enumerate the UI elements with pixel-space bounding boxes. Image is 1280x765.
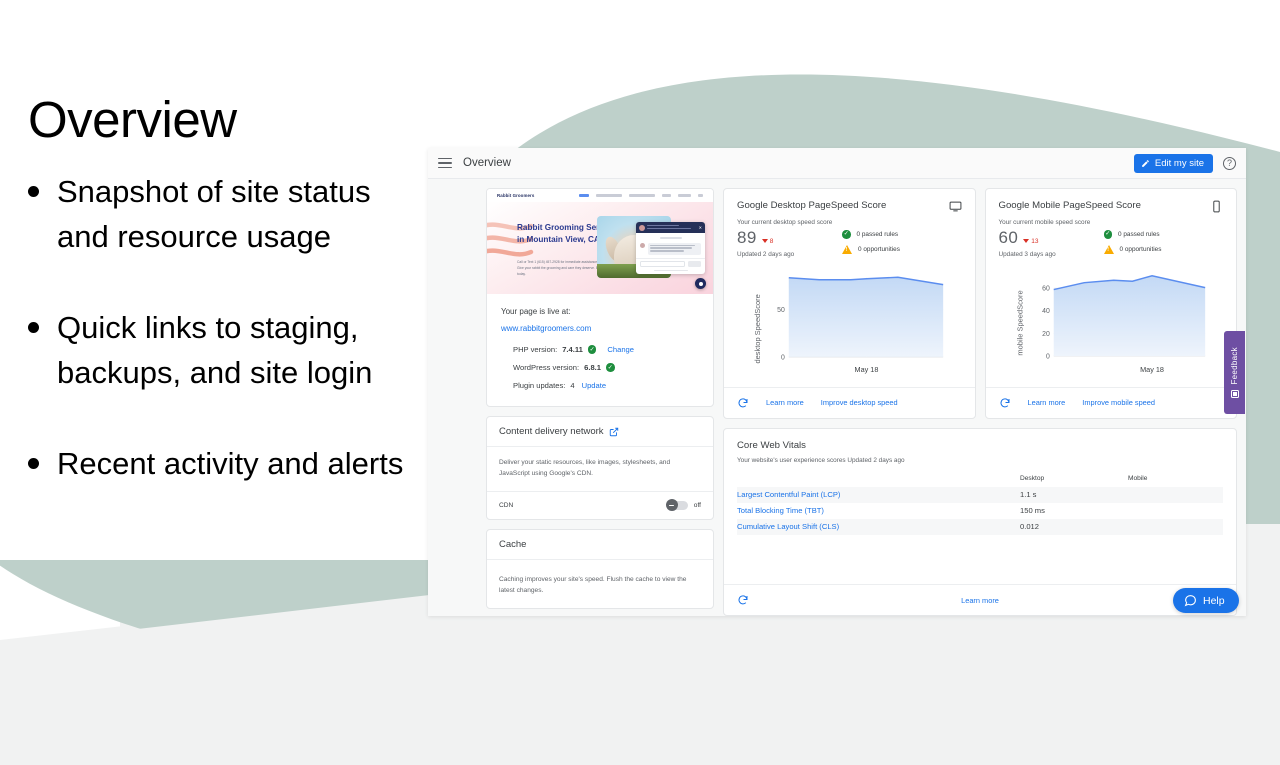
- app-content: Rabbit Groomers Rabbit Grooming Service: [428, 179, 1246, 616]
- cwv-cls-desktop: 0.012: [1020, 522, 1128, 531]
- mobile-area-fill: [1053, 275, 1204, 355]
- wordpress-version-value: 6.8.1: [584, 363, 601, 372]
- feedback-icon: [1231, 390, 1239, 398]
- mobile-pagespeed-card: Google Mobile PageSpeed Score Your curre…: [985, 188, 1238, 419]
- cdn-toggle-label: CDN: [499, 502, 513, 509]
- cwv-learn-more-link[interactable]: Learn more: [724, 596, 1236, 605]
- desktop-chart-svg: desktop SpeedScore 50 0 May 18: [737, 264, 962, 382]
- bullet-dot-icon: [28, 458, 39, 469]
- cdn-card-title: Content delivery network: [499, 426, 604, 437]
- desktop-passed-rules-row: ✓ 0 passed rules: [842, 230, 900, 239]
- bullet-dot-icon: [28, 322, 39, 333]
- site-hero: Rabbit Grooming Services in Mountain Vie…: [487, 202, 713, 294]
- cdn-card: Content delivery network Deliver your st…: [486, 416, 714, 520]
- mobile-updated-text: Updated 3 days ago: [999, 251, 1104, 258]
- core-web-vitals-card: Core Web Vitals Your website's user expe…: [723, 428, 1237, 617]
- mobile-card-footer: Learn more Improve mobile speed: [986, 387, 1237, 418]
- app-window: Overview Edit my site ? Rabbit Groomers: [428, 148, 1246, 616]
- cwv-col-desktop: Desktop: [1020, 475, 1128, 482]
- desktop-score-delta: 8: [762, 238, 774, 245]
- desktop-card-subtitle: Your current desktop speed score: [737, 219, 962, 226]
- desktop-rules-block: ✓ 0 passed rules 0 opportunities: [842, 228, 900, 260]
- mobile-phone-icon: [1210, 200, 1223, 213]
- check-circle-icon: ✓: [842, 230, 851, 239]
- desktop-speed-chart: desktop SpeedScore 50 0 May 18: [724, 260, 975, 387]
- avatar: [640, 243, 645, 248]
- mobile-ytick-60: 60: [1042, 285, 1050, 292]
- app-page-title: Overview: [463, 157, 511, 169]
- question-mark-icon[interactable]: ?: [1223, 157, 1236, 170]
- mobile-card-header: Google Mobile PageSpeed Score Your curre…: [986, 189, 1237, 260]
- cwv-title: Core Web Vitals: [737, 440, 1223, 451]
- table-row: Largest Contentful Paint (LCP) 1.1 s: [737, 487, 1223, 503]
- plugin-updates-row: Plugin updates: 4 Update: [501, 381, 699, 390]
- improve-mobile-speed-link[interactable]: Improve mobile speed: [1082, 398, 1155, 407]
- list-item: Snapshot of site status and resource usa…: [28, 170, 408, 260]
- external-link-icon[interactable]: [609, 427, 619, 437]
- edit-my-site-button[interactable]: Edit my site: [1134, 154, 1213, 173]
- desktop-pagespeed-card: Google Desktop PageSpeed Score Your curr…: [723, 188, 976, 419]
- mobile-y-axis-label: mobile SpeedScore: [1015, 290, 1024, 355]
- mobile-opportunities-label: 0 opportunities: [1120, 246, 1162, 253]
- cwv-metric-lcp[interactable]: Largest Contentful Paint (LCP): [737, 490, 1020, 499]
- feedback-tab[interactable]: Feedback: [1224, 331, 1245, 414]
- cdn-card-header: Content delivery network: [487, 417, 713, 447]
- mobile-card-subtitle: Your current mobile speed score: [999, 219, 1224, 226]
- desktop-opportunities-label: 0 opportunities: [858, 246, 900, 253]
- chat-message-text: [648, 243, 702, 255]
- cwv-lcp-desktop: 1.1 s: [1020, 490, 1128, 499]
- chat-bubble-icon[interactable]: [695, 278, 706, 289]
- desktop-card-footer: Learn more Improve desktop speed: [724, 387, 975, 418]
- mobile-score-delta: 13: [1023, 238, 1038, 245]
- desktop-ytick-50: 50: [777, 307, 785, 314]
- bullet-text: Recent activity and alerts: [57, 442, 403, 487]
- mobile-ytick-0: 0: [1045, 353, 1049, 360]
- cache-card: Cache Caching improves your site's speed…: [486, 529, 714, 609]
- php-change-link[interactable]: Change: [607, 345, 634, 354]
- warning-triangle-icon: [1104, 245, 1114, 254]
- site-logo: Rabbit Groomers: [497, 193, 534, 198]
- site-chat-widget: ✕: [636, 222, 705, 274]
- cwv-table: Desktop Mobile Largest Contentful Paint …: [724, 471, 1236, 535]
- check-circle-icon: ✓: [588, 345, 597, 354]
- avatar: [639, 225, 645, 231]
- site-call-suffix: for immediate assistance!: [561, 260, 598, 264]
- pencil-icon: [1141, 159, 1150, 168]
- mobile-score-block: 60 13 Updated 3 days ago: [999, 228, 1104, 260]
- hamburger-menu-icon[interactable]: [438, 158, 452, 169]
- refresh-icon[interactable]: [737, 397, 749, 409]
- bullet-list: Snapshot of site status and resource usa…: [28, 170, 408, 533]
- cwv-header: Core Web Vitals Your website's user expe…: [724, 429, 1236, 464]
- mobile-ytick-40: 40: [1042, 308, 1050, 315]
- list-item: Quick links to staging, backups, and sit…: [28, 306, 408, 396]
- table-row: Cumulative Layout Shift (CLS) 0.012: [737, 519, 1223, 535]
- cdn-toggle[interactable]: off: [666, 501, 701, 510]
- php-version-label: PHP version:: [513, 345, 557, 354]
- chat-date-divider: [660, 237, 682, 239]
- cwv-tbt-desktop: 150 ms: [1020, 506, 1128, 515]
- mobile-score-value: 60: [999, 228, 1019, 248]
- mobile-delta-value: 13: [1031, 238, 1038, 245]
- site-url-link[interactable]: www.rabbitgroomers.com: [501, 324, 591, 333]
- list-item: Recent activity and alerts: [28, 442, 408, 487]
- live-at-label: Your page is live at:: [501, 306, 699, 318]
- desktop-opportunities-row: 0 opportunities: [842, 245, 900, 254]
- php-version-row: PHP version: 7.4.11 ✓ Change: [501, 345, 699, 354]
- mobile-rules-block: ✓ 0 passed rules 0 opportunities: [1104, 228, 1162, 260]
- bullet-text: Quick links to staging, backups, and sit…: [57, 306, 408, 396]
- cache-card-header: Cache: [487, 530, 713, 560]
- cwv-col-mobile: Mobile: [1128, 475, 1223, 482]
- desktop-ytick-0: 0: [781, 354, 785, 361]
- site-preview-card: Rabbit Groomers Rabbit Grooming Service: [486, 188, 714, 407]
- site-screenshot-thumbnail[interactable]: Rabbit Groomers Rabbit Grooming Service: [487, 189, 713, 294]
- triangle-down-icon: [762, 239, 768, 243]
- desktop-card-header: Google Desktop PageSpeed Score Your curr…: [724, 189, 975, 260]
- cache-card-title: Cache: [499, 539, 526, 550]
- mobile-opportunities-row: 0 opportunities: [1104, 245, 1162, 254]
- desktop-monitor-icon: [949, 200, 962, 213]
- mobile-passed-rules-label: 0 passed rules: [1118, 231, 1160, 238]
- triangle-down-icon: [1023, 239, 1029, 243]
- desktop-score-block: 89 8 Updated 2 days ago: [737, 228, 842, 260]
- warning-triangle-icon: [842, 245, 852, 254]
- app-topbar: Overview Edit my site ?: [428, 148, 1246, 179]
- left-column: Rabbit Groomers Rabbit Grooming Service: [486, 188, 714, 616]
- desktop-passed-rules-label: 0 passed rules: [857, 231, 899, 238]
- desktop-area-fill: [789, 277, 943, 357]
- cdn-toggle-state: off: [694, 502, 701, 509]
- plugin-updates-value: 4: [570, 381, 574, 390]
- help-button[interactable]: Help: [1173, 588, 1239, 613]
- toggle-knob: [666, 499, 678, 511]
- bullet-text: Snapshot of site status and resource usa…: [57, 170, 408, 260]
- mobile-learn-more-link[interactable]: Learn more: [1028, 398, 1066, 407]
- desktop-xtick-label: May 18: [855, 365, 879, 374]
- cache-card-description: Caching improves your site's speed. Flus…: [487, 560, 713, 608]
- cdn-card-description: Deliver your static resources, like imag…: [487, 447, 713, 491]
- chat-input-row[interactable]: [636, 258, 705, 269]
- wordpress-version-row: WordPress version: 6.8.1 ✓: [501, 363, 699, 372]
- page-title: Overview: [28, 93, 237, 147]
- cwv-subtitle: Your website's user experience scores Up…: [737, 457, 1223, 464]
- improve-desktop-speed-link[interactable]: Improve desktop speed: [821, 398, 898, 407]
- check-circle-icon: ✓: [1104, 230, 1113, 239]
- check-circle-icon: ✓: [606, 363, 615, 372]
- table-header-row: Desktop Mobile: [737, 471, 1223, 487]
- mobile-chart-svg: mobile SpeedScore 60 40 20 0: [999, 264, 1224, 382]
- chat-send-button[interactable]: [688, 261, 701, 267]
- cwv-metric-cls[interactable]: Cumulative Layout Shift (CLS): [737, 522, 1020, 531]
- plugin-update-link[interactable]: Update: [582, 381, 607, 390]
- mobile-xtick-label: May 18: [1140, 365, 1164, 374]
- desktop-learn-more-link[interactable]: Learn more: [766, 398, 804, 407]
- desktop-updated-text: Updated 2 days ago: [737, 251, 842, 258]
- edit-my-site-label: Edit my site: [1155, 158, 1204, 169]
- help-label: Help: [1203, 595, 1225, 607]
- site-nav: Rabbit Groomers: [487, 189, 713, 202]
- toggle-track: [666, 501, 688, 510]
- cdn-toggle-row: CDN off: [487, 491, 713, 519]
- chat-bubble-icon: [1184, 594, 1197, 607]
- desktop-y-axis-label: desktop SpeedScore: [753, 294, 762, 363]
- mobile-card-title: Google Mobile PageSpeed Score: [999, 200, 1141, 211]
- speed-cards-row: Google Desktop PageSpeed Score Your curr…: [723, 188, 1237, 419]
- close-icon[interactable]: ✕: [699, 225, 702, 230]
- php-version-value: 7.4.11: [562, 345, 583, 354]
- site-call-text: Call or Text 1 (615) 457-2928: [517, 260, 560, 264]
- plugin-updates-label: Plugin updates:: [513, 381, 565, 390]
- site-nav-links: [579, 194, 703, 197]
- bullet-dot-icon: [28, 186, 39, 197]
- site-status-info: Your page is live at: www.rabbitgroomers…: [487, 294, 713, 406]
- wordpress-version-label: WordPress version:: [513, 363, 579, 372]
- desktop-card-title: Google Desktop PageSpeed Score: [737, 200, 886, 211]
- desktop-delta-value: 8: [770, 238, 774, 245]
- desktop-score-value: 89: [737, 228, 757, 248]
- mobile-ytick-20: 20: [1042, 330, 1050, 337]
- topbar-actions: Edit my site ?: [1134, 154, 1236, 173]
- mobile-passed-rules-row: ✓ 0 passed rules: [1104, 230, 1162, 239]
- refresh-icon[interactable]: [999, 397, 1011, 409]
- right-column: Google Desktop PageSpeed Score Your curr…: [723, 188, 1237, 616]
- chat-footer: [654, 270, 688, 271]
- chat-message: [640, 243, 701, 255]
- white-top: [500, 0, 1280, 160]
- cwv-metric-tbt[interactable]: Total Blocking Time (TBT): [737, 506, 1020, 515]
- chat-input-field[interactable]: [640, 261, 685, 267]
- cwv-footer: Learn more: [724, 584, 1236, 615]
- chat-header-text: [647, 225, 697, 230]
- table-row: Total Blocking Time (TBT) 150 ms: [737, 503, 1223, 519]
- mobile-speed-chart: mobile SpeedScore 60 40 20 0: [986, 260, 1237, 387]
- feedback-label: Feedback: [1230, 347, 1239, 385]
- chat-body: [636, 233, 705, 255]
- chat-header: ✕: [636, 222, 705, 233]
